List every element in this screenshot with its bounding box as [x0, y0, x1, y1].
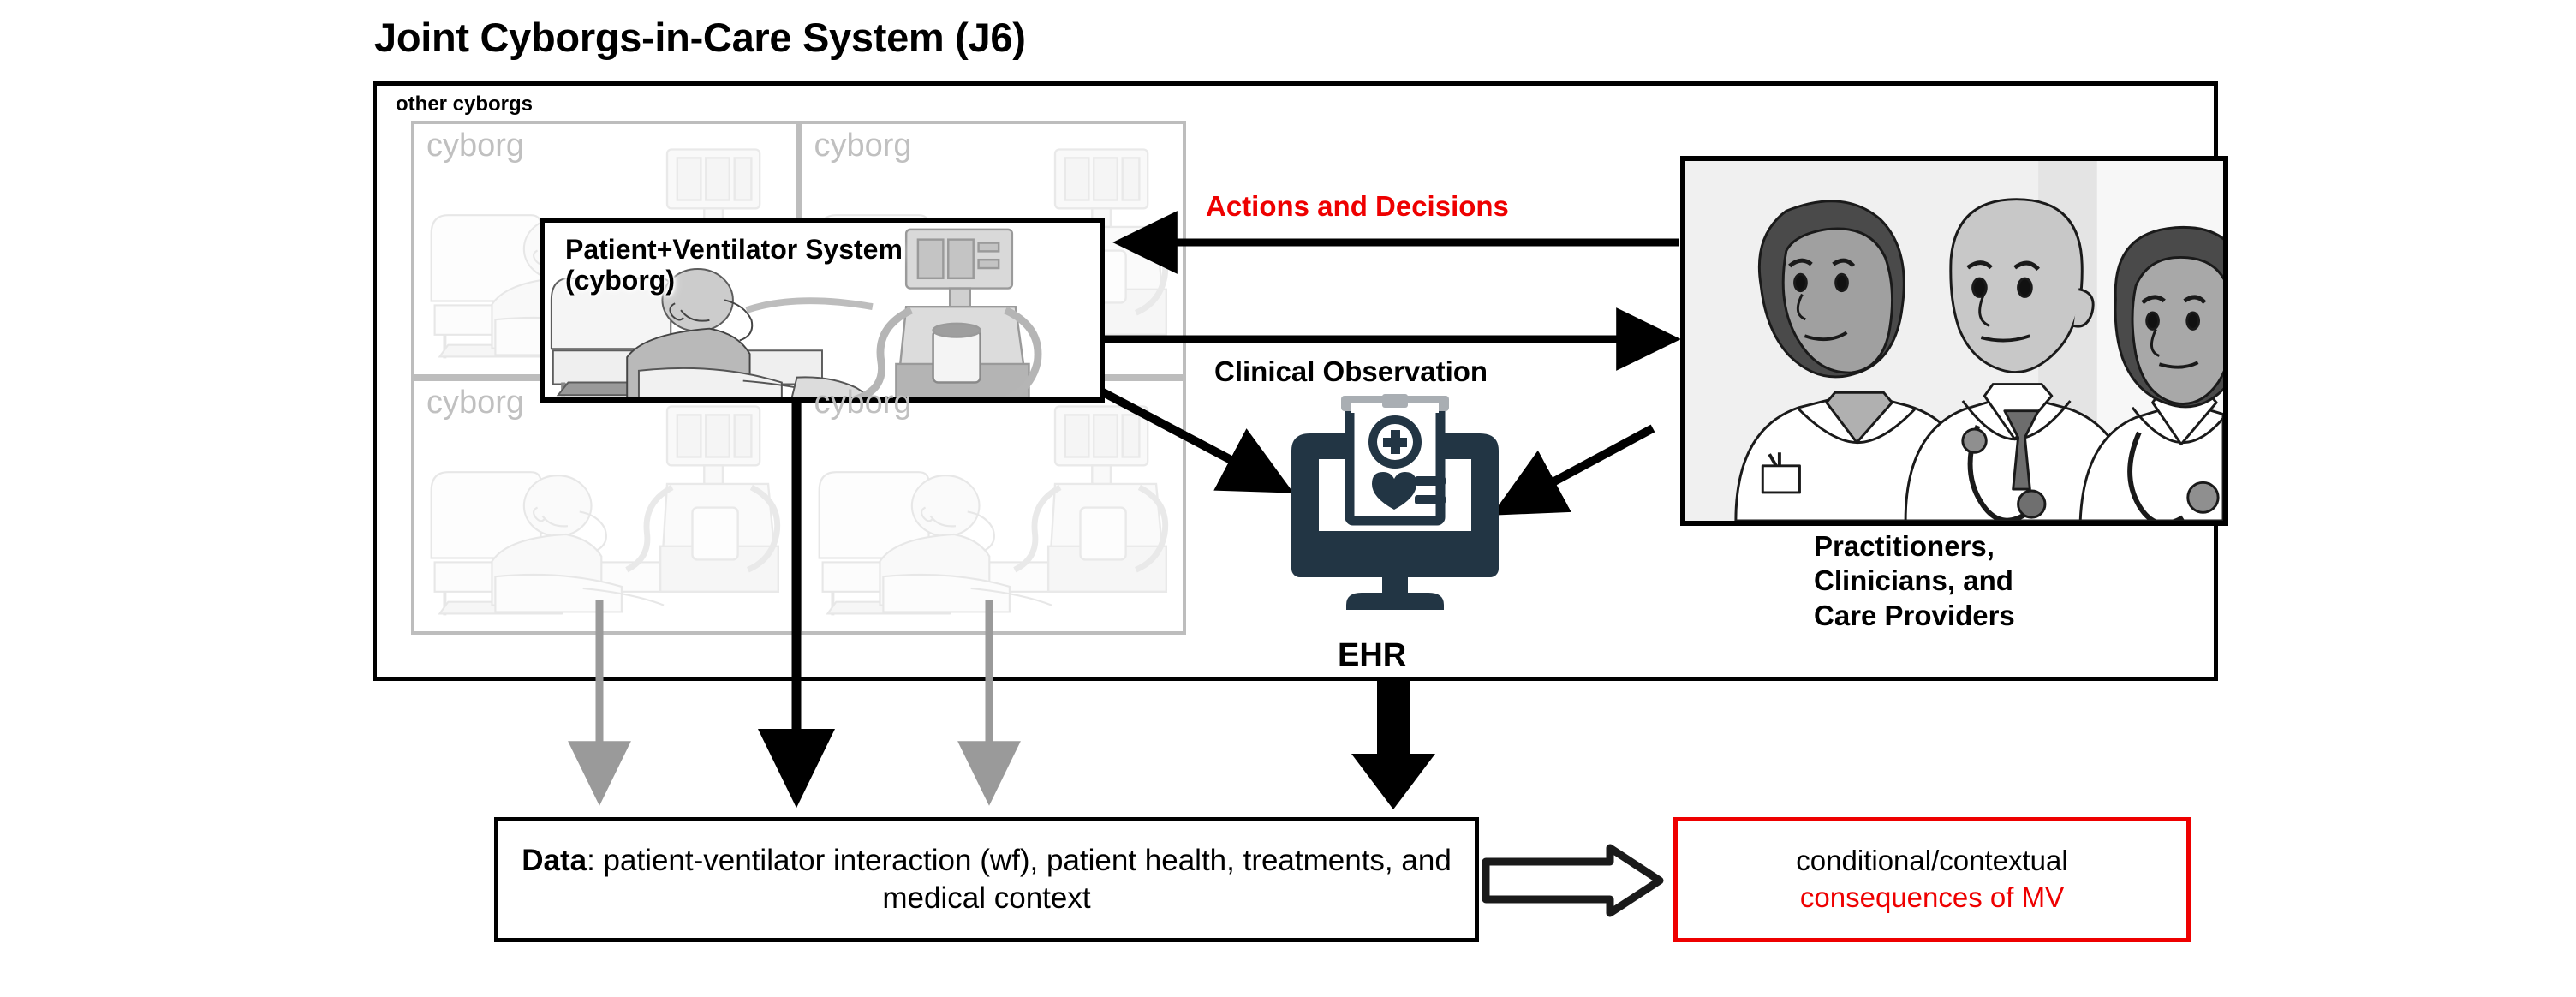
- consequences-box: conditional/contextual consequences of M…: [1673, 817, 2191, 942]
- page-title: Joint Cyborgs-in-Care System (J6): [374, 14, 1026, 61]
- practitioners-image-box: [1680, 156, 2228, 526]
- label-line-1: Patient+Ventilator System: [565, 235, 903, 266]
- consequences-line-2: consequences of MV: [1800, 880, 2064, 916]
- ehr-icon: [1279, 394, 1511, 634]
- consequences-line-1: conditional/contextual: [1796, 843, 2067, 880]
- patient-ventilator-label: Patient+Ventilator System (cyborg): [565, 235, 903, 296]
- data-rest-text: : patient-ventilator interaction (wf), p…: [587, 844, 1452, 915]
- data-to-consequences-arrow: [1486, 848, 1660, 913]
- patient-ventilator-system-box: Patient+Ventilator System (cyborg): [540, 218, 1105, 403]
- data-bold-prefix: Data: [522, 844, 587, 877]
- cyborg-cell: cyborg: [411, 378, 799, 635]
- label-line-2: (cyborg): [565, 266, 903, 296]
- cyborg-cell-label: cyborg: [814, 385, 912, 421]
- actions-and-decisions-label: Actions and Decisions: [1206, 190, 1509, 223]
- ehr-to-data-arrow: [1351, 677, 1435, 809]
- clinicians-illustration: [1685, 161, 2223, 521]
- cyborg-cell-label: cyborg: [426, 385, 524, 421]
- caption-line-1: Practitioners,: [1814, 529, 2015, 564]
- cyborg-cell-label: cyborg: [814, 128, 912, 164]
- clinical-observation-label: Clinical Observation: [1214, 355, 1488, 388]
- other-cyborgs-label: other cyborgs: [396, 93, 533, 116]
- ehr-monitor-icon: [1279, 394, 1511, 634]
- caption-line-3: Care Providers: [1814, 599, 2015, 633]
- data-box: Data: patient-ventilator interaction (wf…: [494, 817, 1479, 942]
- practitioners-caption: Practitioners, Clinicians, and Care Prov…: [1814, 529, 2015, 633]
- caption-line-2: Clinicians, and: [1814, 564, 2015, 598]
- data-box-text: Data: patient-ventilator interaction (wf…: [498, 842, 1475, 917]
- cyborg-cell-label: cyborg: [426, 128, 524, 164]
- cyborg-cell: cyborg: [799, 378, 1187, 635]
- ehr-label: EHR: [1338, 637, 1406, 674]
